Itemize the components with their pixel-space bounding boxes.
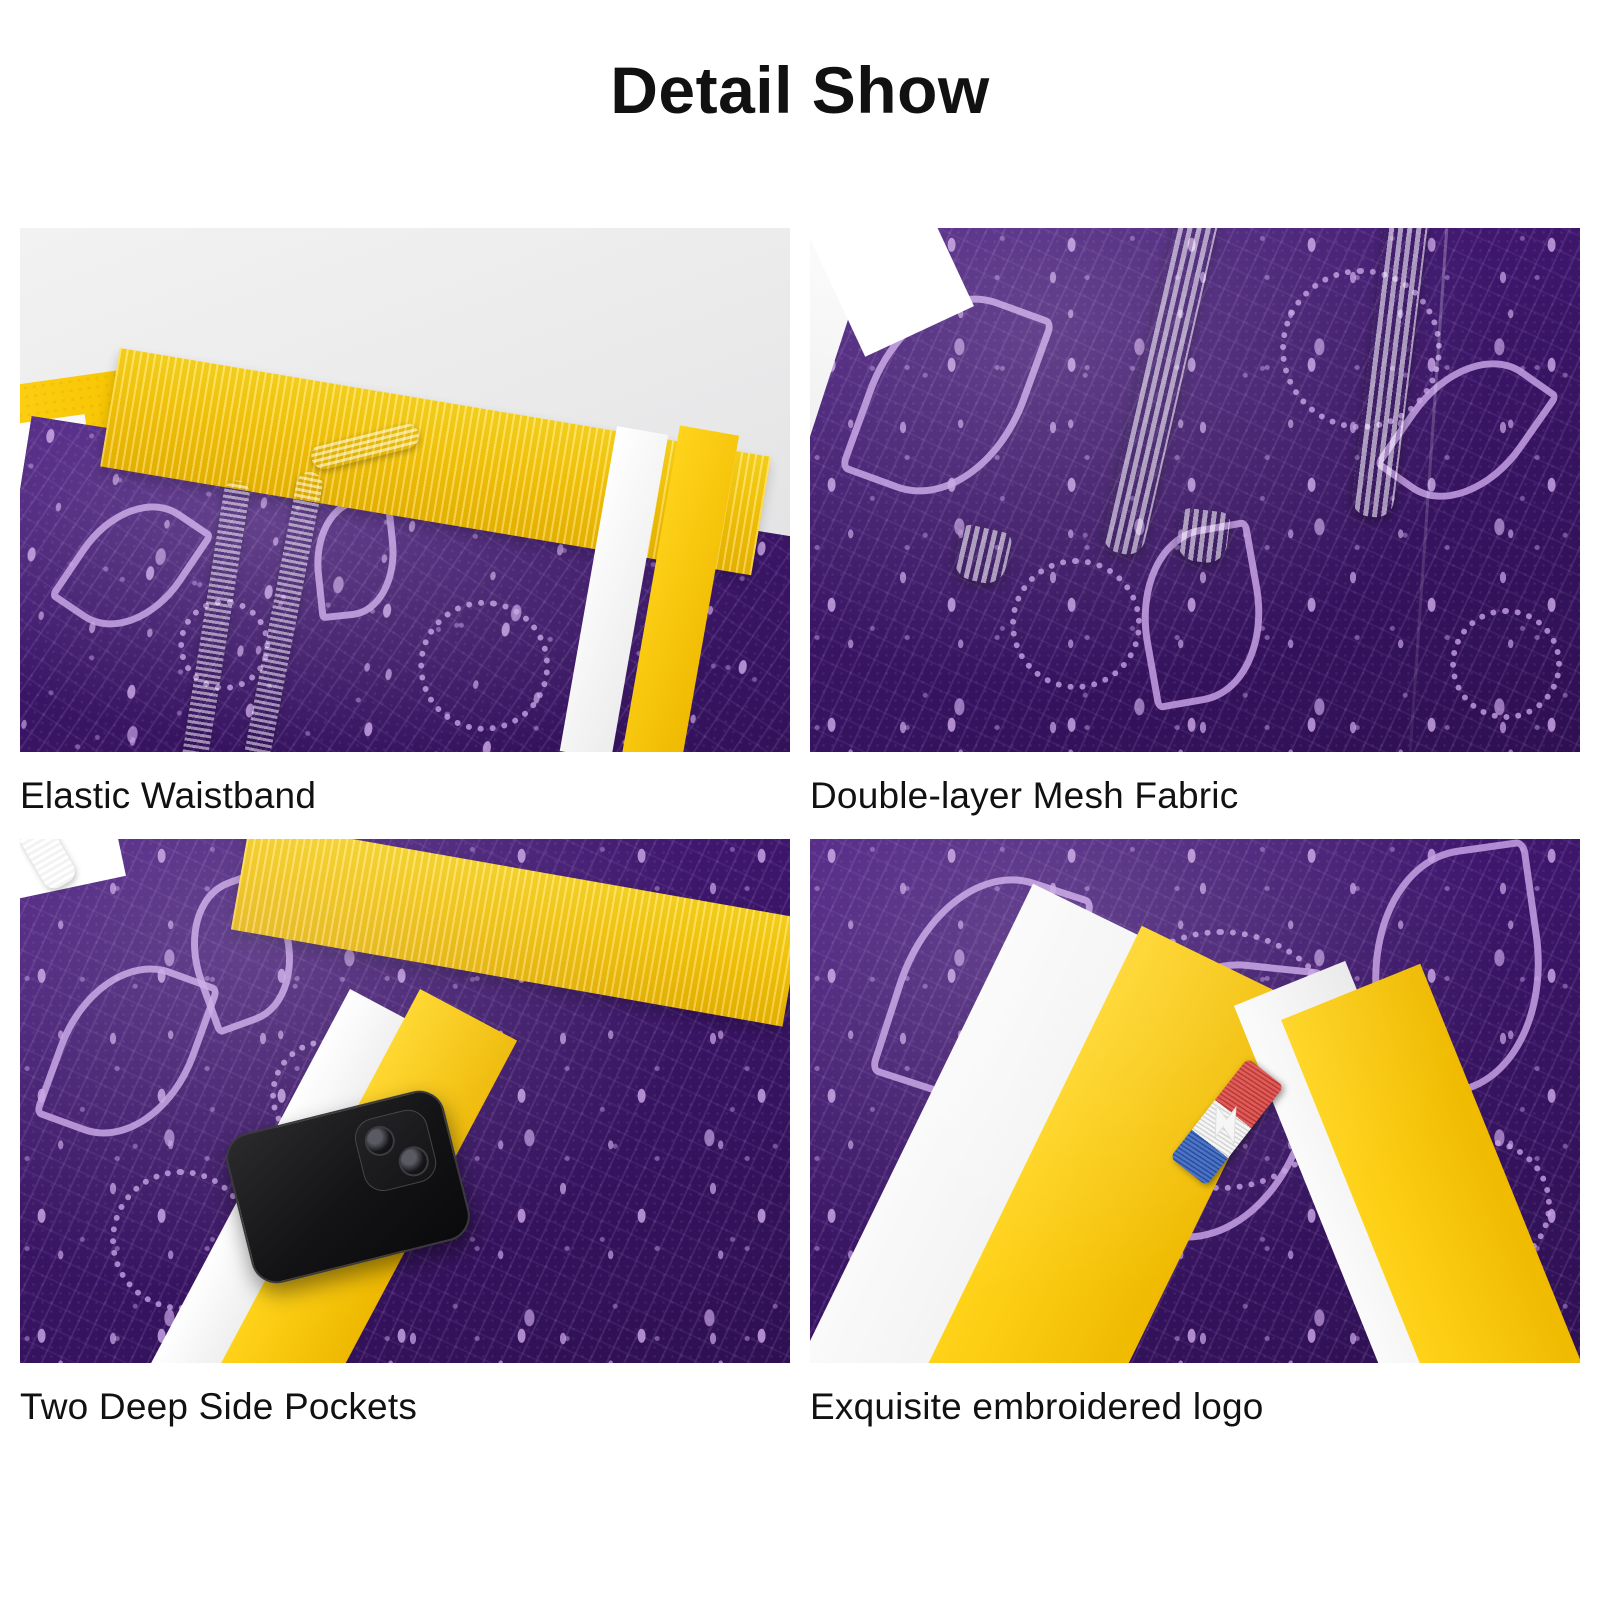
panel-caption: Double-layer Mesh Fabric xyxy=(810,776,1580,817)
camera-lens xyxy=(396,1143,432,1179)
camera-lens xyxy=(362,1123,398,1159)
panel-elastic-waistband: Elastic Waistband xyxy=(20,228,790,817)
panel-mesh-fabric: Double-layer Mesh Fabric xyxy=(810,228,1580,817)
paisley-dot-ring xyxy=(1010,558,1142,690)
photo-mesh-fabric xyxy=(810,228,1580,752)
phone-camera-module xyxy=(351,1106,441,1196)
panel-caption: Exquisite embroidered logo xyxy=(810,1387,1580,1428)
page-title: Detail Show xyxy=(0,52,1600,128)
paisley-dot-ring xyxy=(1450,608,1562,720)
detail-show-page: Detail Show xyxy=(0,0,1600,1600)
panel-caption: Two Deep Side Pockets xyxy=(20,1387,790,1428)
photo-embroidered-logo xyxy=(810,839,1580,1363)
photo-elastic-waistband xyxy=(20,228,790,752)
panel-caption: Elastic Waistband xyxy=(20,776,790,817)
panel-embroidered-logo: Exquisite embroidered logo xyxy=(810,839,1580,1428)
